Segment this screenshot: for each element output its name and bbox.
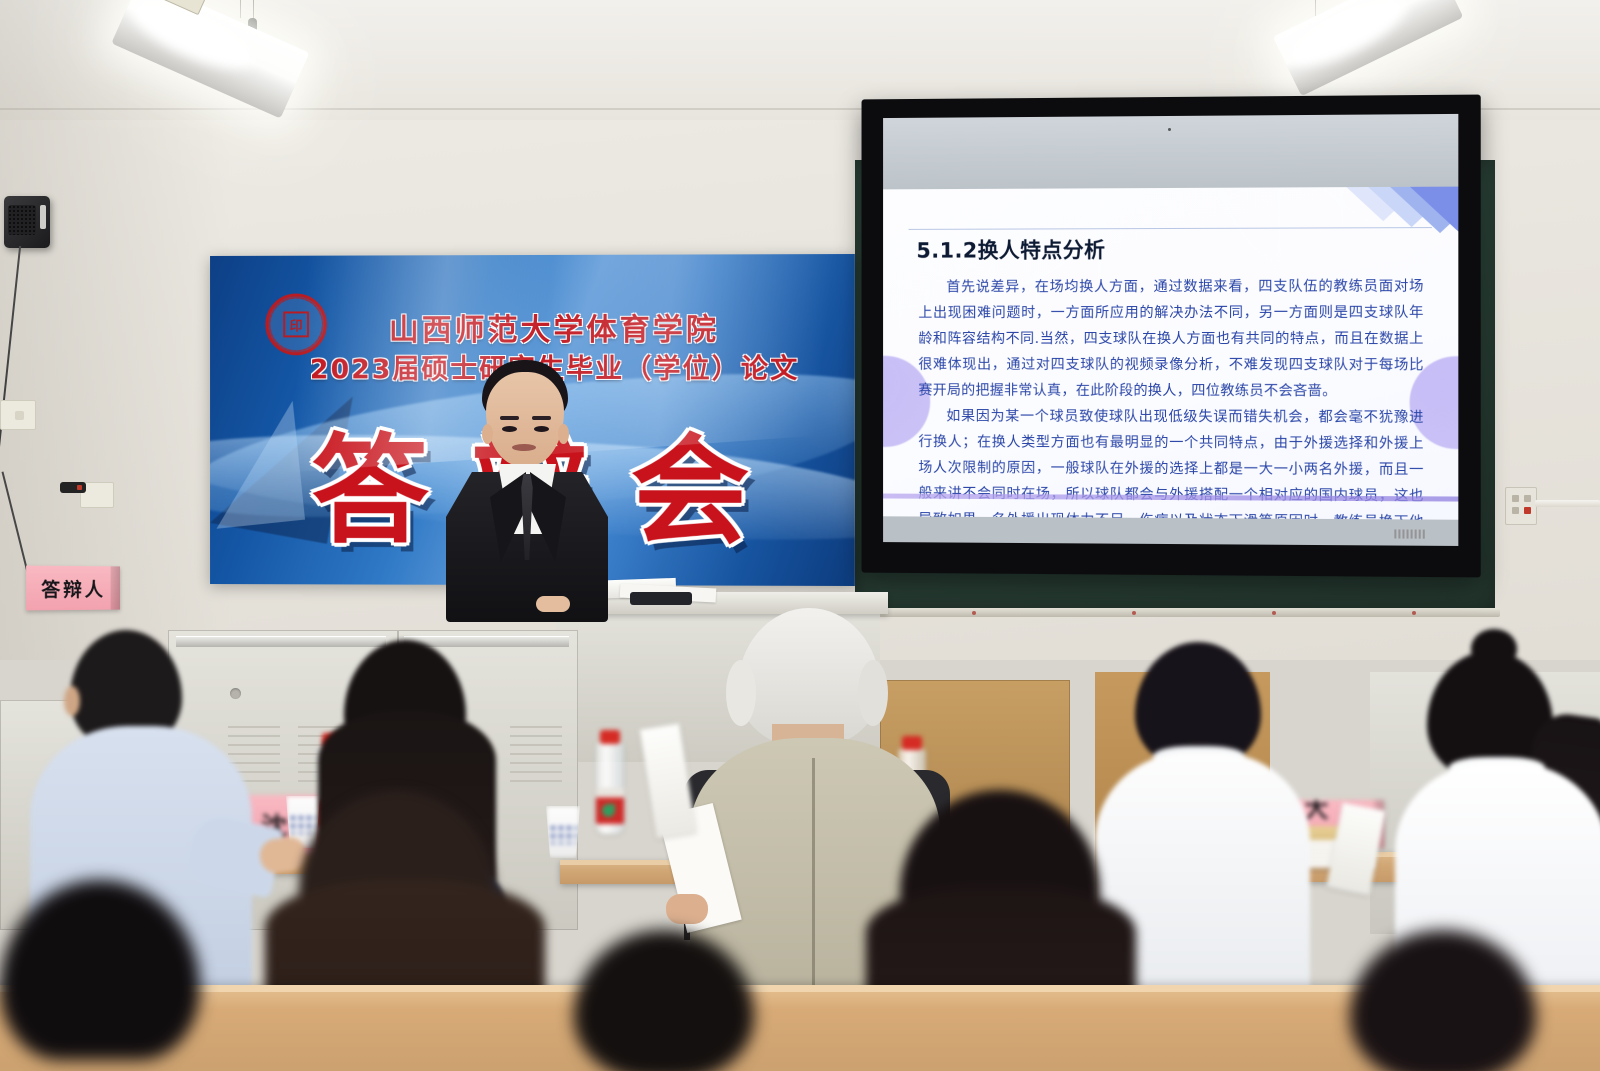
wall-shadow — [0, 0, 230, 660]
display-brand-logo-icon — [1394, 529, 1424, 538]
front-row-person-near-center — [560, 930, 770, 1071]
speaker-grill-icon — [8, 205, 36, 235]
power-plug — [60, 482, 86, 493]
slide-title: 5.1.2换人特点分析 — [916, 234, 1105, 264]
display-camera-dot-icon — [1168, 128, 1171, 131]
placard-defender: 答辩人 — [26, 566, 120, 611]
placard-defender-text: 答辩人 — [41, 574, 106, 601]
water-bottle — [596, 742, 624, 834]
head — [574, 930, 754, 1071]
light-wire-1 — [240, 0, 241, 18]
presenter-hand — [536, 596, 570, 612]
hair-side-right — [858, 660, 888, 726]
wall-outlet-upper-left[interactable] — [0, 400, 36, 430]
head — [0, 880, 200, 1060]
display-bezel-inner: 5.1.2换人特点分析 首先说差异，在场均换人方面，通过数据来看，四支队伍的教练… — [883, 114, 1458, 546]
presenter-head — [486, 372, 564, 466]
speaker-strip — [40, 205, 46, 229]
wall-trim-rail — [1535, 500, 1600, 507]
display-idle-band — [883, 114, 1458, 189]
front-row-person-near-right — [1320, 930, 1550, 1071]
hair-side-left — [726, 660, 756, 726]
slide-paragraph: 首先说差异，在场均换人方面，通过数据来看，四支队伍的教练员面对场上出现困难问题时… — [918, 273, 1423, 404]
slide-paragraph: 如果因为某一个球员致使球队出现低级失误而错失机会，都会毫不犹豫进行换人；在换人类… — [918, 403, 1423, 519]
front-row-person-near-left — [0, 880, 240, 1071]
wall-speaker-amplifier[interactable] — [4, 196, 50, 248]
cabinet-vent — [510, 726, 562, 786]
presenter-defender — [440, 360, 615, 612]
chalk-tray — [852, 608, 1500, 617]
classroom-defense-photo: 印 山西师范大学体育学院 2023届硕士研究生毕业（学位）论文 答辩会 5.1.… — [0, 0, 1600, 1071]
head — [1350, 930, 1536, 1071]
banner-university-line: 山西师范大学体育学院 — [210, 304, 855, 349]
interactive-flat-panel-display[interactable]: 5.1.2换人特点分析 首先说差异，在场均换人方面，通过数据来看，四支队伍的教练… — [862, 95, 1481, 578]
slide-body: 首先说差异，在场均换人方面，通过数据来看，四支队伍的教练员面对场上出现困难问题时… — [918, 273, 1423, 519]
vest-zipper — [812, 758, 815, 1004]
presentation-slide: 5.1.2换人特点分析 首先说差异，在场均换人方面，通过数据来看，四支队伍的教练… — [883, 187, 1458, 520]
podium-remote-device[interactable] — [630, 592, 692, 605]
wall-outlet-right[interactable] — [1505, 487, 1537, 525]
presenter-mouth — [512, 444, 536, 451]
hand — [666, 894, 708, 924]
